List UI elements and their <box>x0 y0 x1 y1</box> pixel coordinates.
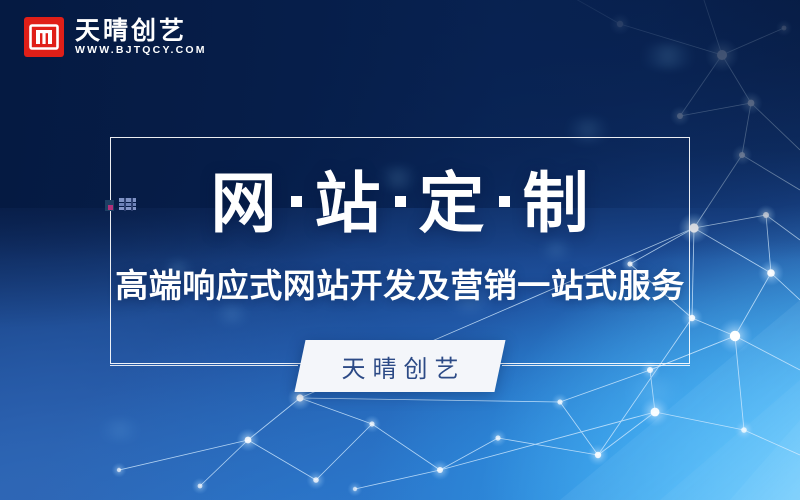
logo-website-url: WWW.BJTQCY.COM <box>75 45 207 56</box>
badge-rule-right <box>502 365 690 366</box>
banner-root: 天晴创艺 WWW.BJTQCY.COM 网 站 定 制 高端响应式网站开发及营销… <box>0 0 800 500</box>
badge-rule-left <box>110 365 298 366</box>
site-logo[interactable]: 天晴创艺 WWW.BJTQCY.COM <box>24 17 207 57</box>
logo-text-block: 天晴创艺 WWW.BJTQCY.COM <box>75 18 207 56</box>
logo-brand-name: 天晴创艺 <box>75 18 207 43</box>
logo-mark-icon <box>24 17 64 57</box>
pixel-artifact <box>105 198 136 213</box>
decorative-frame <box>110 137 690 364</box>
